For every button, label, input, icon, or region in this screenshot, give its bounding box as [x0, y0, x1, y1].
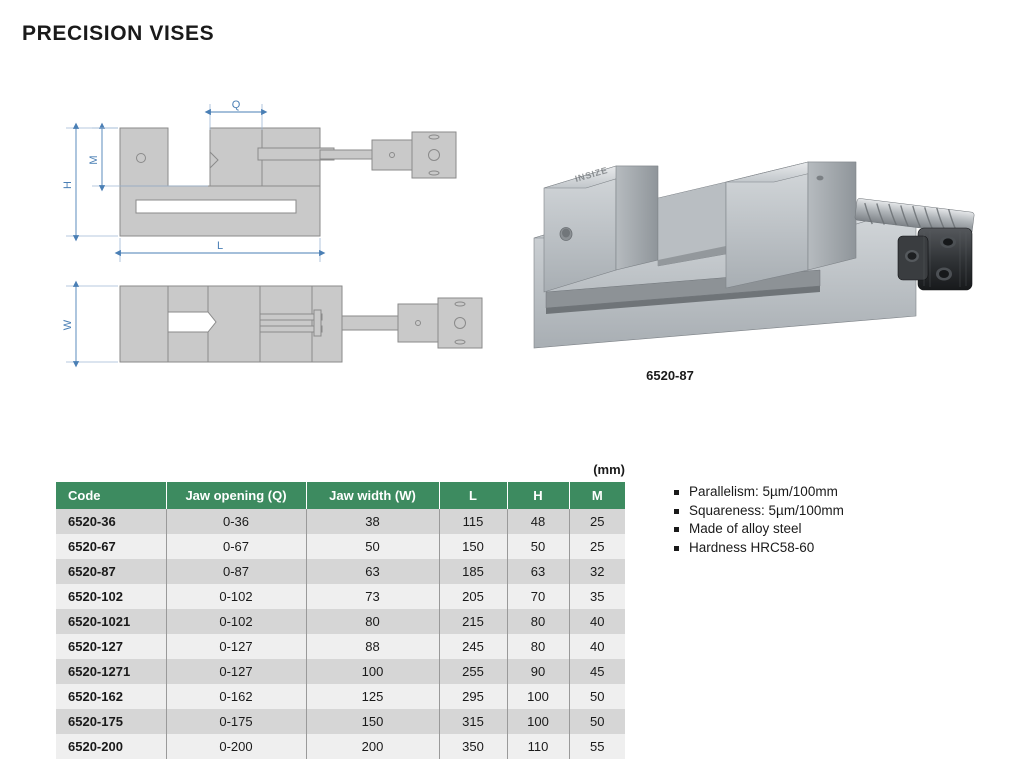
cell-value: 90 [507, 659, 569, 684]
cell-value: 55 [569, 734, 625, 759]
table-row: 6520-360-36381154825 [56, 509, 625, 534]
cell-code: 6520-67 [56, 534, 166, 559]
specification-table: Code Jaw opening (Q) Jaw width (W) L H M… [56, 482, 625, 759]
cell-value: 295 [439, 684, 507, 709]
cell-value: 70 [507, 584, 569, 609]
cell-value: 73 [306, 584, 439, 609]
cell-value: 50 [569, 684, 625, 709]
cell-value: 80 [507, 634, 569, 659]
column-header-l: L [439, 482, 507, 509]
unit-label: (mm) [540, 462, 625, 477]
column-header-m: M [569, 482, 625, 509]
column-header-jaw-width: Jaw width (W) [306, 482, 439, 509]
cell-code: 6520-200 [56, 734, 166, 759]
table-row: 6520-1750-17515031510050 [56, 709, 625, 734]
cell-code: 6520-175 [56, 709, 166, 734]
cell-value: 80 [507, 609, 569, 634]
page-title: PRECISION VISES [22, 22, 214, 46]
table-row: 6520-670-67501505025 [56, 534, 625, 559]
cell-value: 0-127 [166, 634, 306, 659]
cell-code: 6520-36 [56, 509, 166, 534]
product-photo: INSIZE [520, 120, 1010, 395]
cell-value: 0-87 [166, 559, 306, 584]
cell-value: 88 [306, 634, 439, 659]
cell-value: 115 [439, 509, 507, 534]
cell-value: 205 [439, 584, 507, 609]
cell-code: 6520-87 [56, 559, 166, 584]
cell-code: 6520-1021 [56, 609, 166, 634]
table-header: Code Jaw opening (Q) Jaw width (W) L H M [56, 482, 625, 509]
column-header-jaw-opening: Jaw opening (Q) [166, 482, 306, 509]
cell-value: 45 [569, 659, 625, 684]
table-row: 6520-870-87631856332 [56, 559, 625, 584]
cell-value: 245 [439, 634, 507, 659]
photo-caption: 6520-87 [520, 368, 820, 383]
technical-drawings: Q M H L [40, 90, 530, 375]
cell-value: 38 [306, 509, 439, 534]
cell-value: 100 [306, 659, 439, 684]
feature-item: Parallelism: 5µm/100mm [672, 483, 992, 502]
table-row: 6520-12710-1271002559045 [56, 659, 625, 684]
svg-text:W: W [62, 319, 74, 330]
cell-value: 0-162 [166, 684, 306, 709]
cell-value: 110 [507, 734, 569, 759]
cell-value: 315 [439, 709, 507, 734]
feature-item: Squareness: 5µm/100mm [672, 502, 992, 521]
feature-item: Made of alloy steel [672, 520, 992, 539]
column-header-h: H [507, 482, 569, 509]
cell-value: 25 [569, 534, 625, 559]
cell-value: 185 [439, 559, 507, 584]
cell-value: 35 [569, 584, 625, 609]
cell-value: 63 [306, 559, 439, 584]
cell-value: 215 [439, 609, 507, 634]
cell-value: 50 [306, 534, 439, 559]
table-row: 6520-1270-127882458040 [56, 634, 625, 659]
cell-value: 80 [306, 609, 439, 634]
product-photo-svg: INSIZE [520, 120, 1010, 395]
cell-value: 0-175 [166, 709, 306, 734]
table-row: 6520-1020-102732057035 [56, 584, 625, 609]
features-list: Parallelism: 5µm/100mmSquareness: 5µm/10… [672, 483, 992, 557]
cell-value: 0-36 [166, 509, 306, 534]
cell-value: 0-200 [166, 734, 306, 759]
cell-code: 6520-102 [56, 584, 166, 609]
cell-value: 0-67 [166, 534, 306, 559]
header-row: Code Jaw opening (Q) Jaw width (W) L H M [56, 482, 625, 509]
table-row: 6520-1620-16212529510050 [56, 684, 625, 709]
feature-item: Hardness HRC58-60 [672, 539, 992, 558]
cell-value: 350 [439, 734, 507, 759]
cell-value: 40 [569, 609, 625, 634]
svg-text:H: H [62, 181, 74, 189]
cell-value: 150 [439, 534, 507, 559]
cell-value: 255 [439, 659, 507, 684]
cell-value: 0-102 [166, 584, 306, 609]
cell-value: 50 [569, 709, 625, 734]
cell-value: 150 [306, 709, 439, 734]
svg-text:M: M [88, 155, 100, 164]
cell-value: 100 [507, 684, 569, 709]
cell-value: 63 [507, 559, 569, 584]
cell-value: 50 [507, 534, 569, 559]
cell-code: 6520-1271 [56, 659, 166, 684]
svg-text:L: L [217, 240, 223, 252]
cell-value: 25 [569, 509, 625, 534]
cell-value: 125 [306, 684, 439, 709]
cell-value: 32 [569, 559, 625, 584]
svg-text:Q: Q [232, 99, 241, 111]
cell-code: 6520-127 [56, 634, 166, 659]
side-view-drawing: Q M H L [62, 99, 456, 262]
cell-code: 6520-162 [56, 684, 166, 709]
catalog-page: PRECISION VISES [0, 0, 1024, 768]
drawing-svg: Q M H L [40, 90, 530, 375]
cell-value: 200 [306, 734, 439, 759]
table-row: 6520-10210-102802158040 [56, 609, 625, 634]
column-header-code: Code [56, 482, 166, 509]
cell-value: 100 [507, 709, 569, 734]
top-view-drawing: W [62, 286, 482, 362]
cell-value: 48 [507, 509, 569, 534]
cell-value: 0-127 [166, 659, 306, 684]
cell-value: 40 [569, 634, 625, 659]
table-row: 6520-2000-20020035011055 [56, 734, 625, 759]
cell-value: 0-102 [166, 609, 306, 634]
table-body: 6520-360-363811548256520-670-67501505025… [56, 509, 625, 759]
